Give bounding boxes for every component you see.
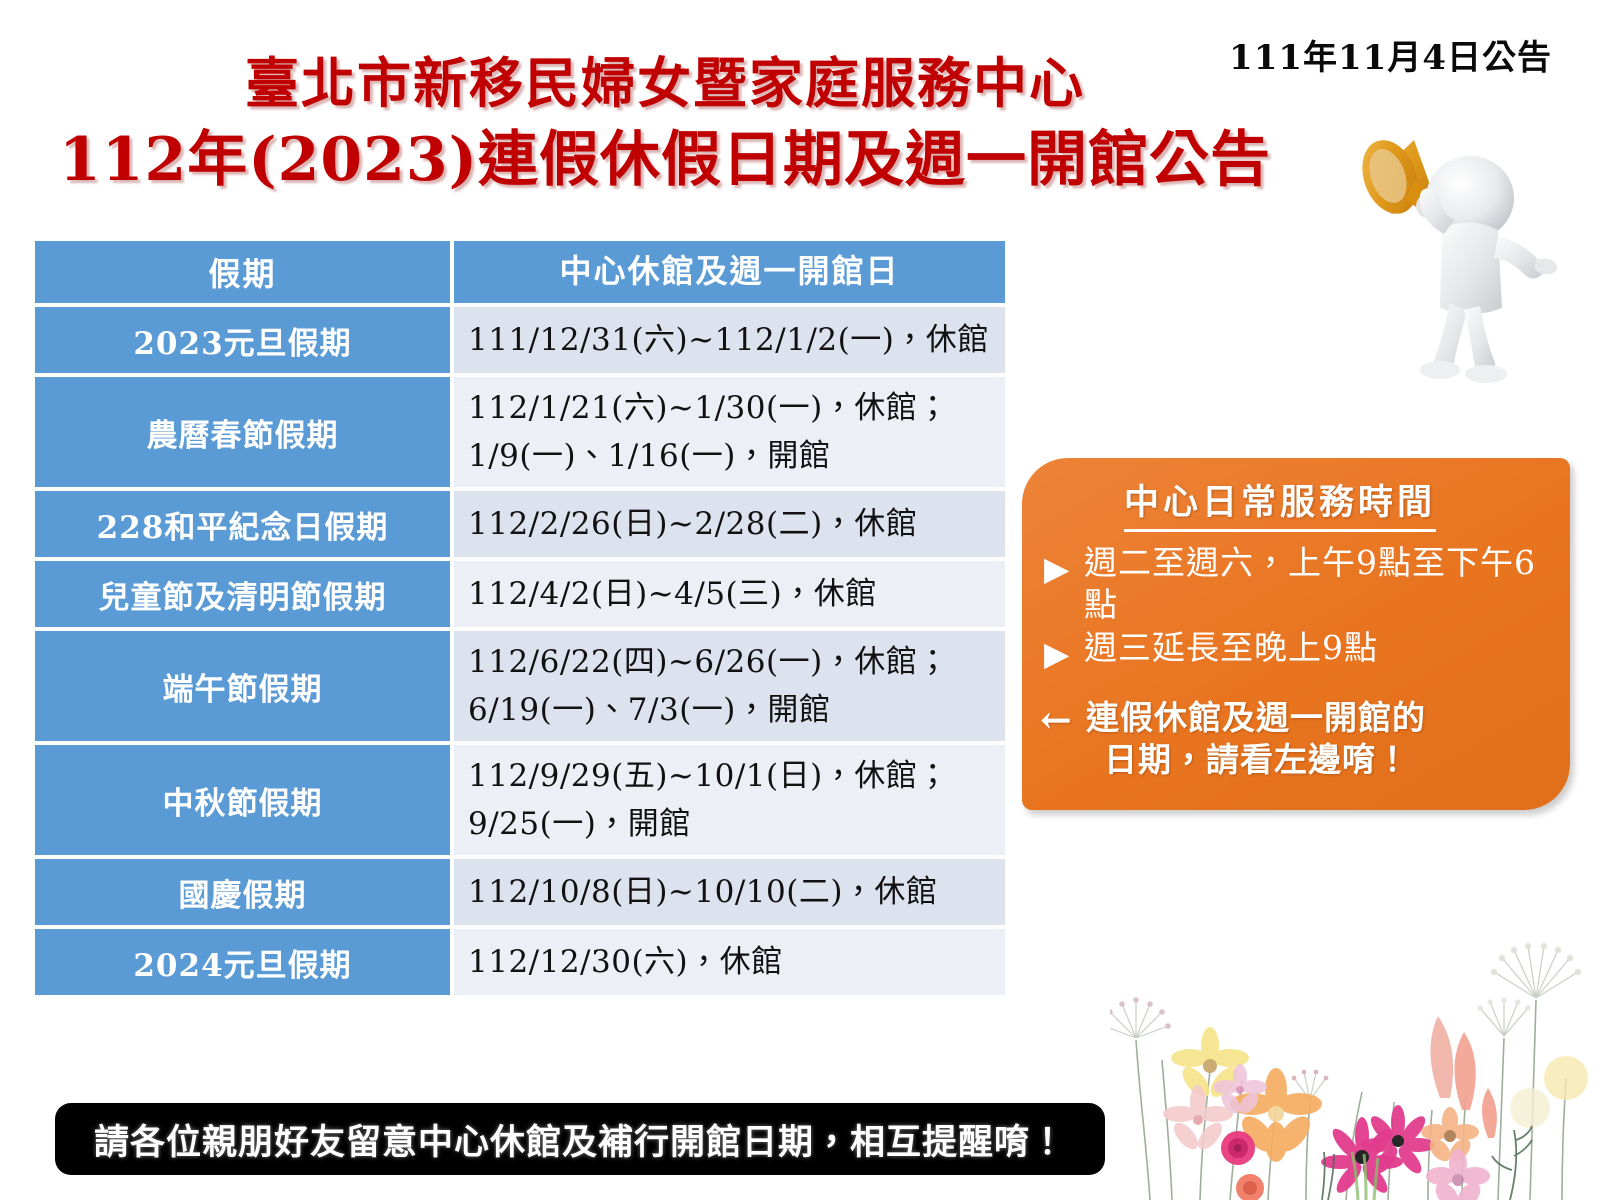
megaphone-person-icon: [1322, 118, 1584, 386]
date-line: 112/2/26(日)~2/28(二)，休館: [468, 500, 1005, 548]
cell-holiday: 中秋節假期: [35, 745, 454, 855]
cell-dates: 111/12/31(六)~112/1/2(一)，休館: [454, 307, 1005, 373]
cell-holiday: 2023元旦假期: [35, 307, 454, 373]
see-left-notice-text: 連假休館及週一開館的 日期，請看左邊唷！: [1086, 697, 1426, 781]
cell-dates: 112/1/21(六)~1/30(一)，休館； 1/9(一)、1/16(一)，開…: [454, 377, 1005, 487]
date-line: 112/4/2(日)~4/5(三)，休館: [468, 570, 1005, 618]
cell-holiday: 農曆春節假期: [35, 377, 454, 487]
date-line: 112/10/8(日)~10/10(二)，休館: [468, 868, 1005, 916]
date-line: 111/12/31(六)~112/1/2(一)，休館: [468, 316, 1005, 364]
arrow-bullet-icon: ▶: [1044, 627, 1084, 675]
holiday-schedule-table: 假期 中心休館及週一開館日 2023元旦假期 111/12/31(六)~112/…: [35, 237, 1005, 999]
table-row: 2024元旦假期 112/12/30(六)，休館: [35, 929, 1005, 995]
table-header-row: 假期 中心休館及週一開館日: [35, 241, 1005, 303]
date-line: 112/6/22(四)~6/26(一)，休館；: [468, 638, 1005, 686]
service-hours-item-text: 週三延長至晚上9點: [1084, 627, 1378, 669]
date-line: 112/1/21(六)~1/30(一)，休館；: [468, 384, 1005, 432]
cell-holiday: 2024元旦假期: [35, 929, 454, 995]
service-hours-item: ▶ 週二至週六，上午9點至下午6點: [1044, 542, 1552, 625]
cell-dates: 112/12/30(六)，休館: [454, 929, 1005, 995]
column-header-holiday: 假期: [35, 241, 454, 303]
notice-line: 日期，請看左邊唷！: [1086, 739, 1426, 781]
service-hours-title: 中心日常服務時間: [1124, 474, 1436, 532]
service-hours-item: ▶ 週三延長至晚上9點: [1044, 627, 1552, 675]
table-row: 228和平紀念日假期 112/2/26(日)~2/28(二)，休館: [35, 491, 1005, 557]
column-header-dates: 中心休館及週一開館日: [454, 241, 1005, 303]
date-line: 112/9/29(五)~10/1(日)，休館；: [468, 752, 1005, 800]
table-body: 2023元旦假期 111/12/31(六)~112/1/2(一)，休館 農曆春節…: [35, 307, 1005, 995]
cell-holiday: 國慶假期: [35, 859, 454, 925]
table-row: 中秋節假期 112/9/29(五)~10/1(日)，休館； 9/25(一)，開館: [35, 745, 1005, 855]
see-left-notice: ← 連假休館及週一開館的 日期，請看左邊唷！: [1040, 697, 1552, 781]
announcement-poster: 111年11月4日公告 臺北市新移民婦女暨家庭服務中心 112年(2023)連假…: [0, 0, 1600, 1200]
reminder-banner: 請各位親朋好友留意中心休館及補行開館日期，相互提醒唷！: [55, 1103, 1105, 1175]
table-row: 端午節假期 112/6/22(四)~6/26(一)，休館； 6/19(一)、7/…: [35, 631, 1005, 741]
arrow-bullet-icon: ▶: [1044, 542, 1084, 590]
cell-dates: 112/6/22(四)~6/26(一)，休館； 6/19(一)、7/3(一)，開…: [454, 631, 1005, 741]
left-arrow-icon: ←: [1040, 697, 1086, 739]
date-line: 6/19(一)、7/3(一)，開館: [468, 686, 1005, 734]
cell-holiday: 兒童節及清明節假期: [35, 561, 454, 627]
service-hours-callout: 中心日常服務時間 ▶ 週二至週六，上午9點至下午6點 ▶ 週三延長至晚上9點 ←…: [1022, 458, 1570, 810]
title-organization: 臺北市新移民婦女暨家庭服務中心: [0, 52, 1330, 114]
table-row: 農曆春節假期 112/1/21(六)~1/30(一)，休館； 1/9(一)、1/…: [35, 377, 1005, 487]
cell-dates: 112/10/8(日)~10/10(二)，休館: [454, 859, 1005, 925]
cell-holiday: 228和平紀念日假期: [35, 491, 454, 557]
cell-holiday: 端午節假期: [35, 631, 454, 741]
date-line: 1/9(一)、1/16(一)，開館: [468, 432, 1005, 480]
table-row: 國慶假期 112/10/8(日)~10/10(二)，休館: [35, 859, 1005, 925]
date-line: 9/25(一)，開館: [468, 800, 1005, 848]
table-row: 2023元旦假期 111/12/31(六)~112/1/2(一)，休館: [35, 307, 1005, 373]
floral-decoration-icon: [1110, 870, 1600, 1200]
service-hours-item-text: 週二至週六，上午9點至下午6點: [1084, 542, 1552, 625]
page-title: 臺北市新移民婦女暨家庭服務中心 112年(2023)連假休假日期及週一開館公告: [0, 52, 1330, 195]
cell-dates: 112/9/29(五)~10/1(日)，休館； 9/25(一)，開館: [454, 745, 1005, 855]
cell-dates: 112/2/26(日)~2/28(二)，休館: [454, 491, 1005, 557]
title-subject: 112年(2023)連假休假日期及週一開館公告: [0, 126, 1330, 195]
date-line: 112/12/30(六)，休館: [468, 938, 1005, 986]
cell-dates: 112/4/2(日)~4/5(三)，休館: [454, 561, 1005, 627]
notice-line: 連假休館及週一開館的: [1086, 697, 1426, 739]
table-row: 兒童節及清明節假期 112/4/2(日)~4/5(三)，休館: [35, 561, 1005, 627]
